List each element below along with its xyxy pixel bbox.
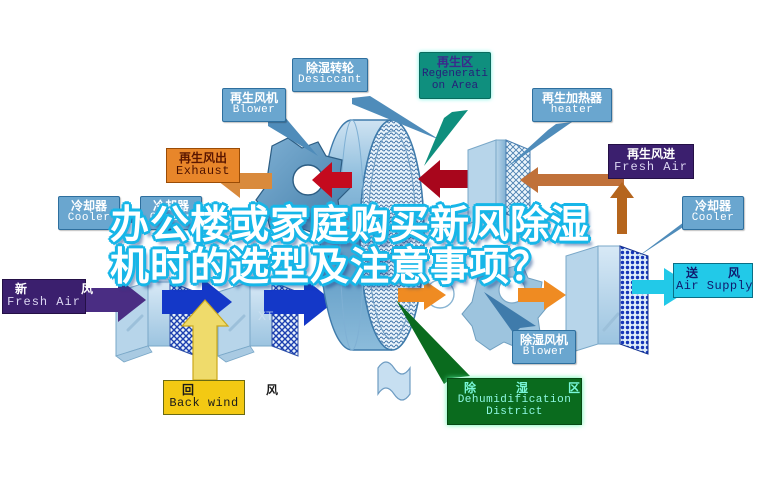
label-air-supply-cn: 送 风 [676, 267, 750, 280]
label-cooler-right[interactable]: 冷却器 Cooler [682, 196, 744, 230]
label-exhaust-cn: 再生风出 [169, 152, 237, 165]
label-back-wind-cn: 回 风 [166, 384, 242, 397]
label-air-supply[interactable]: 送 风 Air Supply [673, 263, 753, 298]
label-desiccant[interactable]: 除湿转轮 Desiccant [292, 58, 368, 92]
svg-text:XT: XT [258, 309, 274, 323]
label-regen-area-en-2: on Area [422, 81, 488, 93]
label-regen-blower-cn: 再生风机 [225, 92, 283, 105]
label-dehum-district-cn: 除 湿 区 [450, 382, 579, 395]
label-regeneration-area[interactable]: 再生区 Regenerati on Area [419, 52, 491, 99]
label-desiccant-en: Desiccant [295, 75, 365, 87]
label-dehum-district-en-2: District [450, 407, 579, 419]
label-fresh-air-left-en: Fresh Air [5, 296, 83, 309]
label-cooler-right-en: Cooler [685, 213, 741, 225]
headline-overlay: 办公楼或家庭购买新风除湿 机时的选型及注意事项？ [110, 205, 670, 289]
label-cooler-left-1-cn: 冷却器 [61, 200, 117, 213]
label-fresh-air-left[interactable]: 新 风 Fresh Air [2, 279, 86, 314]
label-cooler-right-cn: 冷却器 [685, 200, 741, 213]
label-back-wind[interactable]: 回 风 Back wind [163, 380, 245, 415]
diagram-canvas: XT 除湿转轮 Desiccant 再生风机 Blower 再生区 Regene… [0, 0, 757, 488]
label-desiccant-cn: 除湿转轮 [295, 62, 365, 75]
label-exhaust-en: Exhaust [169, 165, 237, 178]
regen-hot-arrow-2 [418, 160, 468, 198]
label-dehum-blower-en: Blower [515, 347, 573, 359]
label-regen-heater-en: heater [535, 105, 609, 117]
label-dehum-blower-cn: 除湿风机 [515, 334, 573, 347]
label-fresh-air-regen-en: Fresh Air [611, 161, 691, 174]
label-back-wind-en: Back wind [166, 397, 242, 410]
label-air-supply-en: Air Supply [676, 280, 750, 293]
label-exhaust[interactable]: 再生风出 Exhaust [166, 148, 240, 183]
label-regen-heater-cn: 再生加热器 [535, 92, 609, 105]
label-fresh-air-regen-cn: 再生风进 [611, 148, 691, 161]
headline-line-2: 机时的选型及注意事项？ [110, 247, 670, 289]
label-dehumidification-district[interactable]: 除 湿 区 Dehumidification District [447, 378, 582, 425]
label-fresh-air-regen[interactable]: 再生风进 Fresh Air [608, 144, 694, 179]
label-dehumidification-blower[interactable]: 除湿风机 Blower [512, 330, 576, 364]
label-regeneration-heater[interactable]: 再生加热器 heater [532, 88, 612, 122]
label-regen-area-cn: 再生区 [422, 56, 488, 69]
label-regeneration-blower[interactable]: 再生风机 Blower [222, 88, 286, 122]
label-fresh-air-left-cn: 新 风 [5, 283, 83, 296]
label-regen-blower-en: Blower [225, 105, 283, 117]
label-cooler-left-1-en: Cooler [61, 213, 117, 225]
headline-line-1: 办公楼或家庭购买新风除湿 [110, 205, 670, 247]
